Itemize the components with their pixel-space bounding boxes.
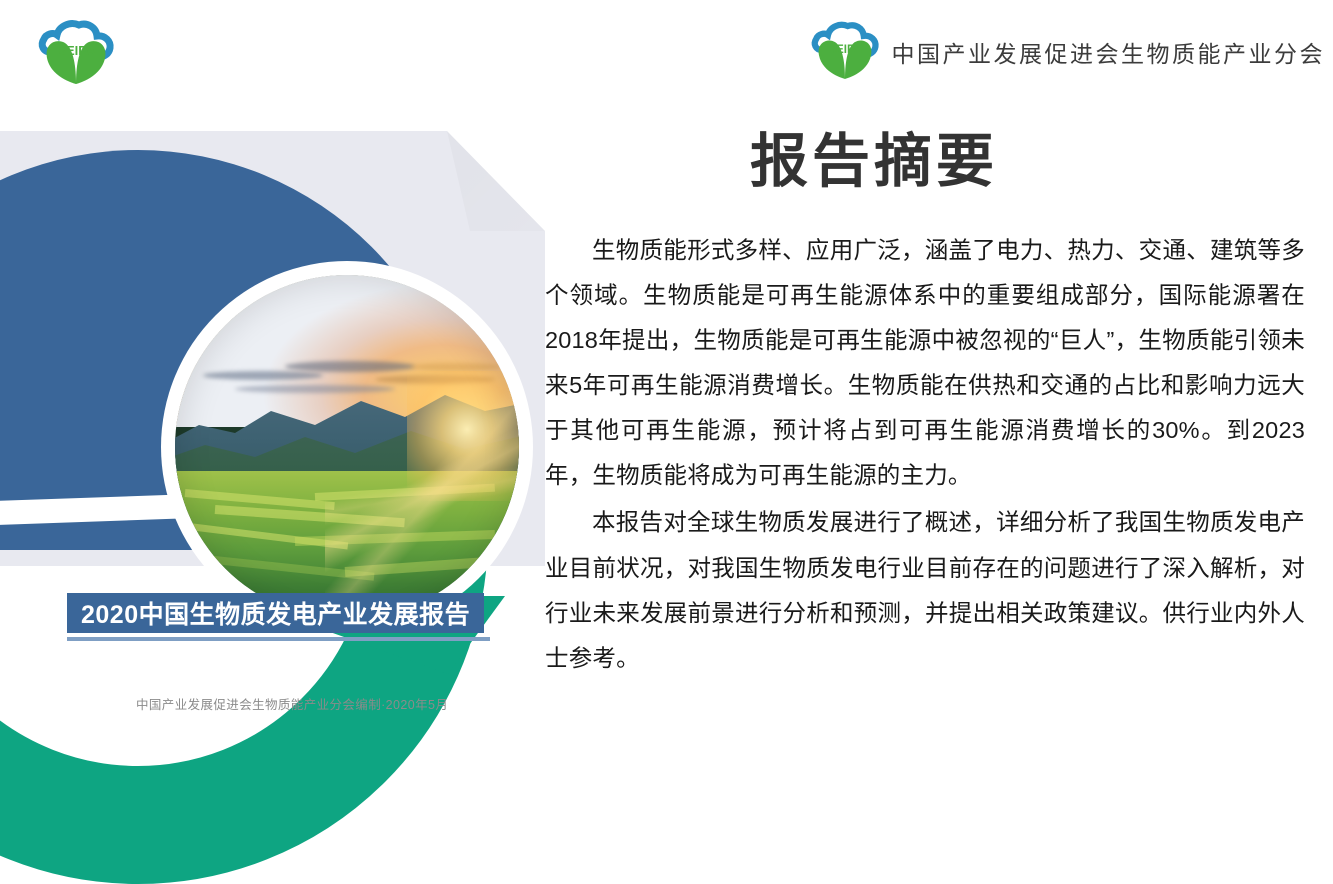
summary-paragraph-2: 本报告对全球生物质发展进行了概述，详细分析了我国生物质发电产业目前状况，对我国生… xyxy=(545,500,1305,680)
summary-paragraph-1: 生物质能形式多样、应用广泛，涵盖了电力、热力、交通、建筑等多个领域。生物质能是可… xyxy=(545,228,1305,499)
main-content: 报告摘要 生物质能形式多样、应用广泛，涵盖了电力、热力、交通、建筑等多个领域。生… xyxy=(545,130,1305,681)
organization-name: 中国产业发展促进会生物质能产业分会 xyxy=(892,35,1326,69)
page-title: 报告摘要 xyxy=(750,130,1305,194)
left-decorative-art xyxy=(0,131,560,566)
beipa-logo-icon: BEIPA xyxy=(33,16,119,92)
report-title-banner: 2020中国生物质发电产业发展报告 xyxy=(67,593,484,633)
photo-vignette xyxy=(175,275,519,619)
header-brand: BEIPA 中国产业发展促进会生物质能产业分会 xyxy=(806,18,1326,86)
banner-underline xyxy=(67,637,490,641)
page-header: BEIPA BEIPA 中国产业发展促进会生物质能产业分会 xyxy=(0,0,1333,105)
svg-text:BEIPA: BEIPA xyxy=(827,43,862,56)
logo-wordmark: BEIPA xyxy=(57,43,96,58)
footer-credit: 中国产业发展促进会生物质能产业分会编制·2020年5月 xyxy=(136,694,448,713)
beipa-logo-small-icon: BEIPA xyxy=(806,18,884,86)
report-title-text: 2020中国生物质发电产业发展报告 xyxy=(81,595,470,631)
landscape-photo xyxy=(175,275,519,619)
